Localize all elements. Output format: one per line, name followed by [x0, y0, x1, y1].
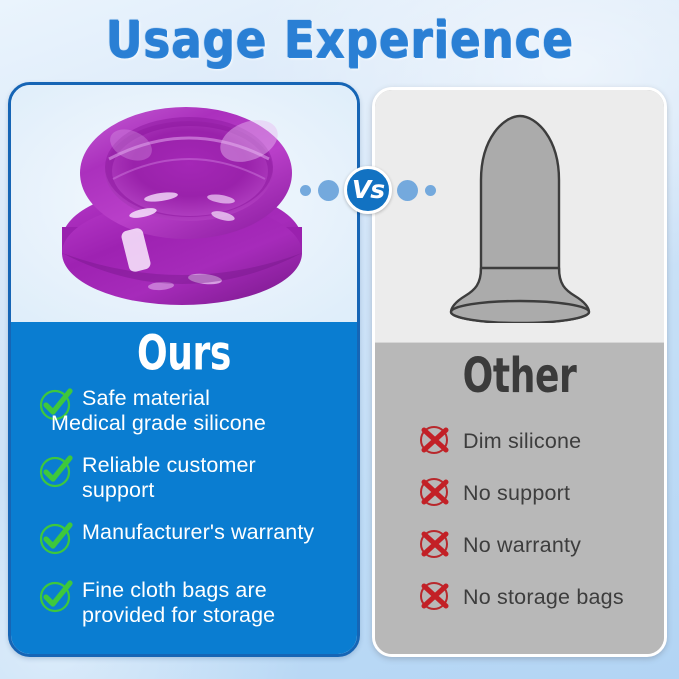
gray-silicone-cup-outline-icon [445, 108, 595, 323]
list-item: Reliable customer support [37, 452, 357, 503]
feature-line-1: Fine cloth bags are [82, 578, 267, 602]
check-circle-icon [37, 453, 73, 494]
purple-silicone-cupping-cup-icon [53, 101, 311, 309]
other-feature-text: No support [463, 481, 570, 505]
other-detail-panel: Other Dim silicone [375, 343, 664, 657]
versus-label: Vs [352, 177, 384, 202]
versus-separator: Vs [288, 164, 448, 216]
versus-dot-right-small [425, 185, 436, 196]
list-item: Dim silicone [417, 415, 664, 467]
check-circle-icon [37, 578, 73, 619]
cross-circle-icon [417, 474, 451, 513]
ours-feature-text: Reliable customer support [82, 452, 256, 503]
ours-heading: Ours [32, 326, 336, 380]
versus-dot-left-small [300, 185, 311, 196]
list-item: Safe material Medical grade silicone [37, 385, 357, 436]
feature-line-1: Manufacturer's warranty [82, 520, 314, 544]
header: Usage Experience [0, 0, 679, 78]
cross-circle-icon [417, 422, 451, 461]
other-heading: Other [392, 338, 646, 404]
list-item: Fine cloth bags are provided for storage [37, 577, 357, 628]
ours-feature-text: Fine cloth bags are provided for storage [82, 577, 275, 628]
other-feature-text: No warranty [463, 533, 581, 557]
feature-line-1: Reliable customer [82, 453, 256, 477]
list-item: No support [417, 467, 664, 519]
list-item: No storage bags [417, 571, 664, 623]
ours-detail-panel: Ours Safe material Medical grade silicon… [11, 322, 357, 657]
other-feature-text: Dim silicone [463, 429, 581, 453]
feature-line-1: Safe material [82, 386, 210, 410]
other-product-photo [375, 90, 664, 343]
versus-dot-left-large [318, 180, 339, 201]
list-item: Manufacturer's warranty [37, 519, 357, 561]
ours-feature-text: Safe material Medical grade silicone [82, 385, 266, 436]
cross-circle-icon [417, 526, 451, 565]
versus-badge: Vs [344, 166, 392, 214]
check-circle-icon [37, 520, 73, 561]
versus-dot-right-large [397, 180, 418, 201]
list-item: No warranty [417, 519, 664, 571]
feature-line-2: support [82, 478, 154, 502]
page-title: Usage Experience [106, 9, 574, 68]
feature-line-2: Medical grade silicone [51, 411, 266, 436]
other-feature-list: Dim silicone No support [375, 415, 664, 623]
other-feature-text: No storage bags [463, 585, 624, 609]
cross-circle-icon [417, 578, 451, 617]
feature-line-2: provided for storage [82, 603, 275, 627]
ours-feature-text: Manufacturer's warranty [82, 519, 314, 545]
ours-feature-list: Safe material Medical grade silicone Rel… [11, 385, 357, 628]
